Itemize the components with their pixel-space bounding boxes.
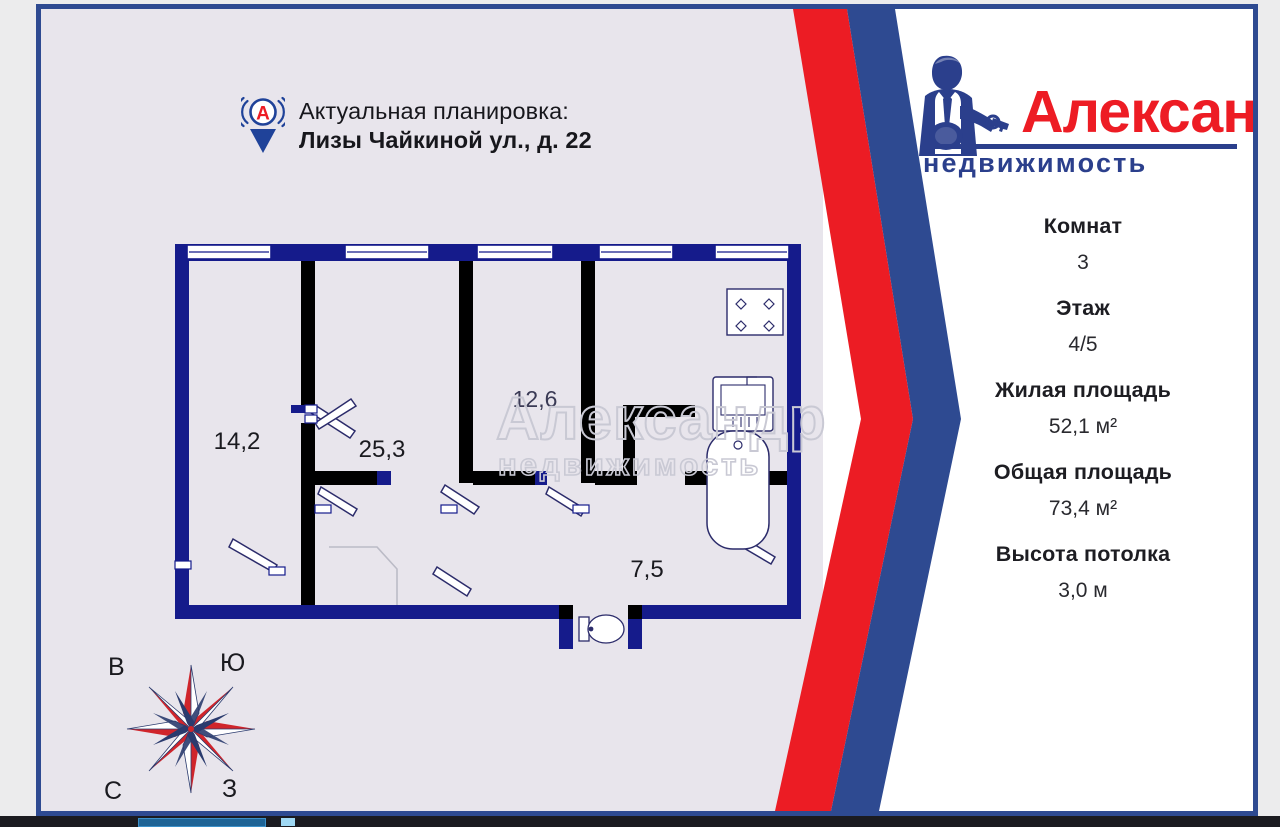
svg-text:A: A <box>256 104 270 125</box>
brand-logo: Александр недвижимость <box>903 44 1255 194</box>
info-row-floor: Этаж 4/5 <box>913 296 1253 357</box>
header-caption: Актуальная планировка: <box>299 97 592 126</box>
info-label-floor: Этаж <box>913 296 1253 321</box>
toilet-icon <box>579 615 624 643</box>
info-value-living-area: 52,1 м² <box>913 415 1253 439</box>
room-area-label-14-2: 14,2 <box>214 428 261 455</box>
room-area-label-12-6: 12,6 <box>513 386 558 412</box>
brand-subtitle: недвижимость <box>923 148 1147 178</box>
room-area-label-7-5: 7,5 <box>630 556 663 583</box>
property-info-list: Комнат 3 Этаж 4/5 Жилая площадь 52,1 м² … <box>913 214 1253 624</box>
info-label-rooms: Комнат <box>913 214 1253 239</box>
info-value-floor: 4/5 <box>913 333 1253 357</box>
info-value-ceiling-height: 3,0 м <box>913 579 1253 603</box>
brand-name: Александр <box>1021 79 1255 145</box>
realtor-man-with-key-icon <box>919 56 1009 156</box>
info-label-total-area: Общая площадь <box>913 460 1253 485</box>
sink-icon <box>713 377 773 431</box>
info-value-total-area: 73,4 м² <box>913 497 1253 521</box>
room-area-label-25-3: 25,3 <box>359 436 406 463</box>
bottom-bar-window-icon <box>281 818 295 826</box>
bathtub-icon <box>707 431 769 549</box>
bottom-bar-window-chip[interactable] <box>138 818 266 827</box>
plan-walls <box>175 244 801 649</box>
info-row-ceiling-height: Высота потолка 3,0 м <box>913 542 1253 603</box>
floor-plan: 14,2 25,3 12,6 7,5 <box>129 209 829 649</box>
info-label-living-area: Жилая площадь <box>913 378 1253 403</box>
info-row-rooms: Комнат 3 <box>913 214 1253 275</box>
stove-icon <box>727 289 783 335</box>
info-label-ceiling-height: Высота потолка <box>913 542 1253 567</box>
info-row-total-area: Общая площадь 73,4 м² <box>913 460 1253 521</box>
header-address: Лизы Чайкиной ул., д. 22 <box>299 126 592 155</box>
header-title-block: A Актуальная планировка: Лизы Чайкиной у… <box>241 91 592 161</box>
card-background: A Актуальная планировка: Лизы Чайкиной у… <box>41 9 1253 811</box>
niche-outline <box>329 547 397 605</box>
compass-rose-block: В Ю С З <box>96 641 286 816</box>
info-row-living-area: Жилая площадь 52,1 м² <box>913 378 1253 439</box>
listing-card: A Актуальная планировка: Лизы Чайкиной у… <box>36 4 1258 816</box>
compass-rose-icon <box>96 641 286 816</box>
screenshot-root: A Актуальная планировка: Лизы Чайкиной у… <box>0 0 1280 827</box>
map-pin-icon: A <box>241 91 285 161</box>
info-value-rooms: 3 <box>913 251 1253 275</box>
floor-plan-svg: 14,2 25,3 12,6 7,5 <box>129 209 829 649</box>
bottom-cutoff-bar <box>0 816 1280 827</box>
